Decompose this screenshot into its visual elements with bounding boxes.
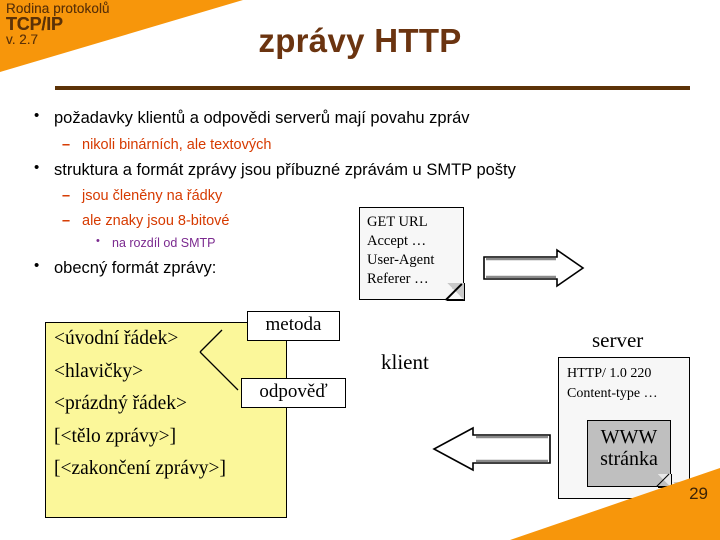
page-number: 29: [689, 484, 708, 504]
request-line-3: User-Agent: [367, 251, 463, 270]
list-item: jsou členěny na řádky: [26, 187, 626, 205]
title-divider: [55, 86, 690, 90]
client-label: klient: [381, 350, 429, 375]
client-request-document: GET URL Accept … User-Agent Referer …: [359, 207, 464, 300]
page-title: zprávy HTTP: [0, 22, 720, 60]
response-line-2: Content-type …: [567, 384, 689, 404]
list-item: nikoli binárních, ale textových: [26, 136, 626, 154]
response-line-1: HTTP/ 1.0 220: [567, 364, 689, 384]
www-page-box: WWW stránka: [587, 420, 671, 487]
request-line-1: GET URL: [367, 213, 463, 232]
list-item: požadavky klientů a odpovědi serverů maj…: [26, 108, 626, 129]
www-page-line-1: WWW: [588, 426, 670, 448]
server-response-document: HTTP/ 1.0 220 Content-type … WWW stránka: [558, 357, 690, 499]
document-fold-icon: [447, 283, 465, 301]
format-line-body: [<tělo zprávy>]: [54, 427, 286, 447]
slide-canvas: Rodina protokolů TCP/IP v. 2.7 zprávy HT…: [0, 0, 720, 540]
server-label: server: [592, 328, 643, 353]
list-item: struktura a formát zprávy jsou příbuzné …: [26, 160, 626, 181]
callout-odpoved: odpověď: [241, 378, 346, 408]
arrow-left-response: [434, 428, 550, 470]
list-item: na rozdíl od SMTP: [26, 236, 626, 252]
callout-metoda: metoda: [247, 311, 340, 341]
message-format-box: <úvodní řádek> <hlavičky> <prázdný řádek…: [45, 322, 287, 518]
bullet-list: požadavky klientů a odpovědi serverů maj…: [26, 108, 626, 286]
list-item: ale znaky jsou 8-bitové: [26, 212, 626, 230]
list-item: obecný formát zprávy:: [26, 258, 626, 279]
request-line-2: Accept …: [367, 232, 463, 251]
www-page-line-2: stránka: [588, 448, 670, 470]
format-line-trailer: [<zakončení zprávy>]: [54, 459, 286, 479]
